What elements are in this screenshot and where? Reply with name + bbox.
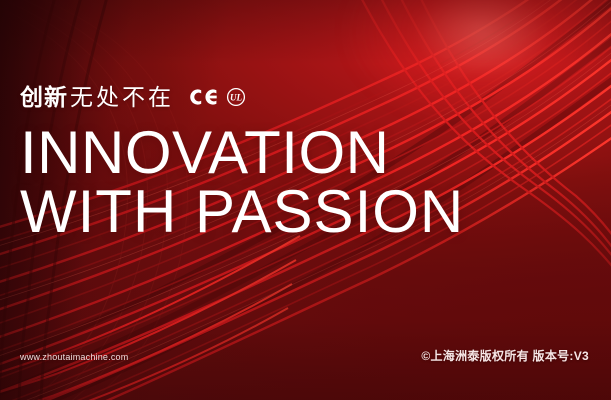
headline-line-2: WITH PASSION (20, 183, 464, 242)
headline-line-1: INNOVATION (20, 124, 464, 183)
website-url: www.zhoutaimachine.com (20, 352, 128, 362)
ul-mark-icon: UL (226, 87, 246, 107)
promo-banner: 创新 无处不在 UL INNOVATION WITH PASSION www.z… (0, 0, 611, 400)
svg-text:UL: UL (230, 93, 242, 103)
certification-marks: UL (188, 87, 246, 107)
page-title: INNOVATION WITH PASSION (20, 124, 464, 242)
tagline-row: 创新 无处不在 UL (20, 82, 246, 112)
copyright-notice: ©上海洲泰版权所有 版本号:V3 (421, 347, 589, 364)
ce-mark-icon (188, 87, 218, 107)
tagline-light: 无处不在 (70, 86, 174, 109)
tagline-strong: 创新 (20, 86, 68, 109)
banner-content: 创新 无处不在 UL INNOVATION WITH PASSION www.z… (0, 0, 611, 400)
